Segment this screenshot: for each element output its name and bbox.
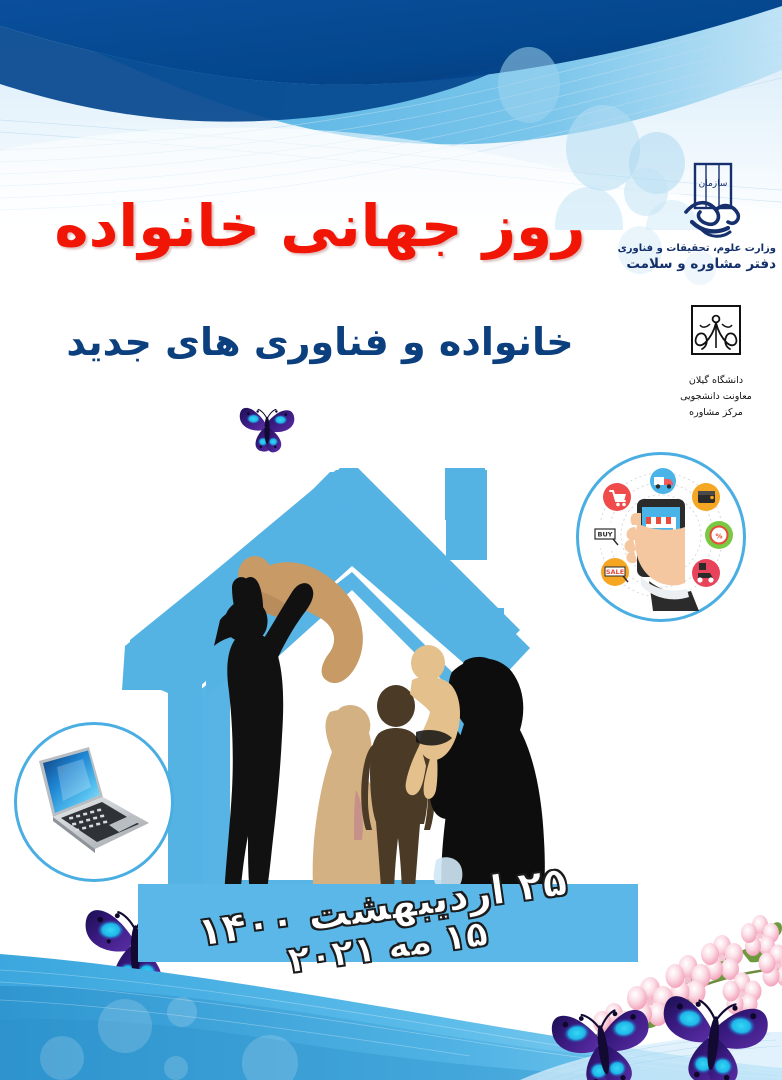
lifted-child-silhouette bbox=[238, 556, 363, 683]
house-outline bbox=[122, 468, 530, 890]
butterfly-small-top bbox=[240, 408, 295, 452]
university-of-guilan-logo: دانشگاه گیلان معاونت دانشجویی مرکز مشاور… bbox=[655, 300, 777, 419]
laptop-illustration-circle bbox=[14, 722, 174, 882]
laptop-illustration bbox=[17, 725, 171, 879]
footer-wave-svg bbox=[0, 930, 782, 1080]
footer-decoration bbox=[0, 930, 782, 1080]
guilan-emblem-icon bbox=[684, 300, 748, 372]
ministry-of-science-logo: سازمان وزارت علوم، تحقیقات و فناوری دفتر… bbox=[650, 160, 776, 272]
ecommerce-illustration-circle: % SALE BUY bbox=[576, 452, 746, 622]
wallet-badge bbox=[692, 483, 720, 511]
university-caption-line-2: معاونت دانشجویی bbox=[655, 390, 777, 404]
university-caption-line-3: مرکز مشاوره bbox=[655, 406, 777, 420]
university-caption-line-1: دانشگاه گیلان bbox=[655, 374, 777, 388]
page-title: روز جهانی خانواده bbox=[0, 196, 640, 257]
baby-silhouette bbox=[406, 645, 460, 799]
svg-text:%: % bbox=[715, 533, 722, 541]
poster-canvas: روز جهانی خانواده خانواده و فناوری های ج… bbox=[0, 0, 782, 1080]
mother-beige-silhouette bbox=[313, 705, 387, 900]
page-subtitle: خانواده و فناوری های جدید bbox=[20, 322, 620, 364]
svg-text:SALE: SALE bbox=[606, 568, 624, 576]
shopping-cart-badge bbox=[603, 483, 631, 511]
family-silhouettes bbox=[214, 556, 545, 900]
delivery-truck-badge bbox=[650, 468, 676, 494]
ministry-emblem-icon: سازمان bbox=[682, 160, 744, 240]
father-silhouette bbox=[214, 577, 313, 896]
svg-text:سازمان: سازمان bbox=[699, 179, 728, 189]
ministry-caption-line-2: دفتر مشاوره و سلامت bbox=[650, 256, 776, 273]
boy-silhouette bbox=[361, 685, 435, 900]
discount-tag-badge: % bbox=[705, 521, 733, 549]
buy-tag-badge: BUY bbox=[591, 521, 619, 549]
sale-tag-badge: SALE bbox=[601, 558, 629, 586]
scooter-delivery-badge bbox=[692, 559, 720, 587]
svg-text:BUY: BUY bbox=[598, 531, 613, 539]
ministry-caption-line-1: وزارت علوم، تحقیقات و فناوری bbox=[650, 243, 776, 256]
ecommerce-phone-illustration: % SALE BUY bbox=[579, 455, 743, 619]
